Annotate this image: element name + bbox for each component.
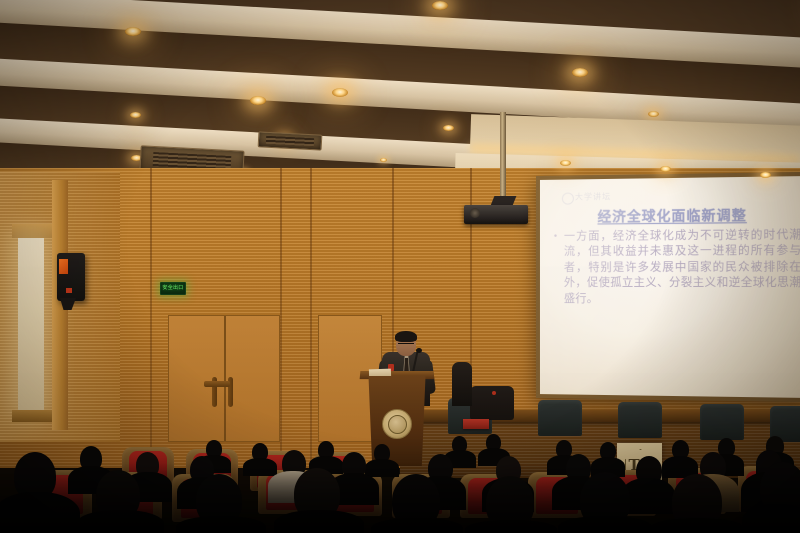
audience-shoulders	[371, 518, 463, 533]
panel-seam	[150, 168, 152, 468]
photograph-scene: 安全出口 大学讲坛 经济全球化面临新调整 • 一方面，经济全球化成为不可逆转的时…	[0, 0, 800, 533]
audience-shoulders	[742, 504, 800, 533]
institutional-emblem-icon	[382, 409, 412, 439]
speaker-led-indicator	[66, 288, 72, 293]
air-vent-icon	[258, 131, 323, 150]
double-door[interactable]	[168, 315, 280, 442]
downlight-icon	[332, 88, 348, 97]
slide-title: 经济全球化面临新调整	[540, 203, 800, 226]
speaker-hair	[395, 331, 417, 342]
vertical-light-window	[18, 238, 44, 410]
slide-body-text: 一方面，经济全球化成为不可逆转的时代潮流，但其收益并未惠及这一进程的所有参与者，…	[564, 227, 800, 307]
name-placard	[463, 419, 489, 429]
stage-chair	[700, 404, 744, 440]
speaker-label	[59, 259, 68, 274]
stage-chair	[618, 402, 662, 438]
downlight-icon	[443, 125, 454, 131]
downlight-icon	[125, 27, 141, 36]
downlight-icon	[432, 1, 448, 10]
emblem-inner-ring	[388, 415, 407, 434]
exit-sign: 安全出口	[160, 282, 186, 295]
audience-shoulders	[365, 459, 399, 477]
slide-logo-icon: 大学讲坛	[562, 191, 608, 204]
stage-chair	[538, 400, 582, 436]
audience-shoulders	[76, 510, 164, 533]
projection-screen: 大学讲坛 经济全球化面临新调整 • 一方面，经济全球化成为不可逆转的时代潮流，但…	[536, 172, 800, 402]
downlight-icon	[380, 158, 387, 162]
window-frame-bottom	[12, 410, 52, 422]
downlight-icon	[130, 112, 141, 118]
panel-seam	[310, 168, 312, 468]
secondary-figure	[452, 362, 472, 406]
projector-lens	[470, 208, 480, 218]
panel-seam	[280, 168, 282, 468]
downlight-icon	[560, 160, 571, 166]
audience-shoulders	[465, 520, 557, 533]
audience-shoulders	[274, 510, 364, 533]
downlight-icon	[648, 111, 659, 117]
downlight-icon	[572, 68, 588, 77]
speaker-glasses-icon	[398, 343, 414, 348]
window-frame-top	[12, 224, 52, 238]
lapel-pin	[492, 391, 496, 395]
audience-shoulders	[0, 492, 80, 533]
audience-shoulders	[176, 516, 266, 533]
audience-shoulders	[650, 518, 744, 533]
slide-surface: 大学讲坛 经济全球化面临新调整 • 一方面，经济全球化成为不可逆转的时代潮流，但…	[540, 176, 800, 398]
downlight-icon	[250, 96, 266, 105]
slide-logo-text: 大学讲坛	[575, 191, 611, 203]
downlight-icon	[760, 172, 771, 178]
audience-shoulders	[243, 458, 277, 476]
microphone-icon	[416, 348, 422, 353]
logo-ring	[562, 193, 574, 205]
audience-shoulders	[558, 516, 652, 533]
exit-sign-label: 安全出口	[162, 286, 183, 291]
door-push-bar[interactable]	[204, 381, 230, 387]
downlight-icon	[660, 166, 671, 172]
